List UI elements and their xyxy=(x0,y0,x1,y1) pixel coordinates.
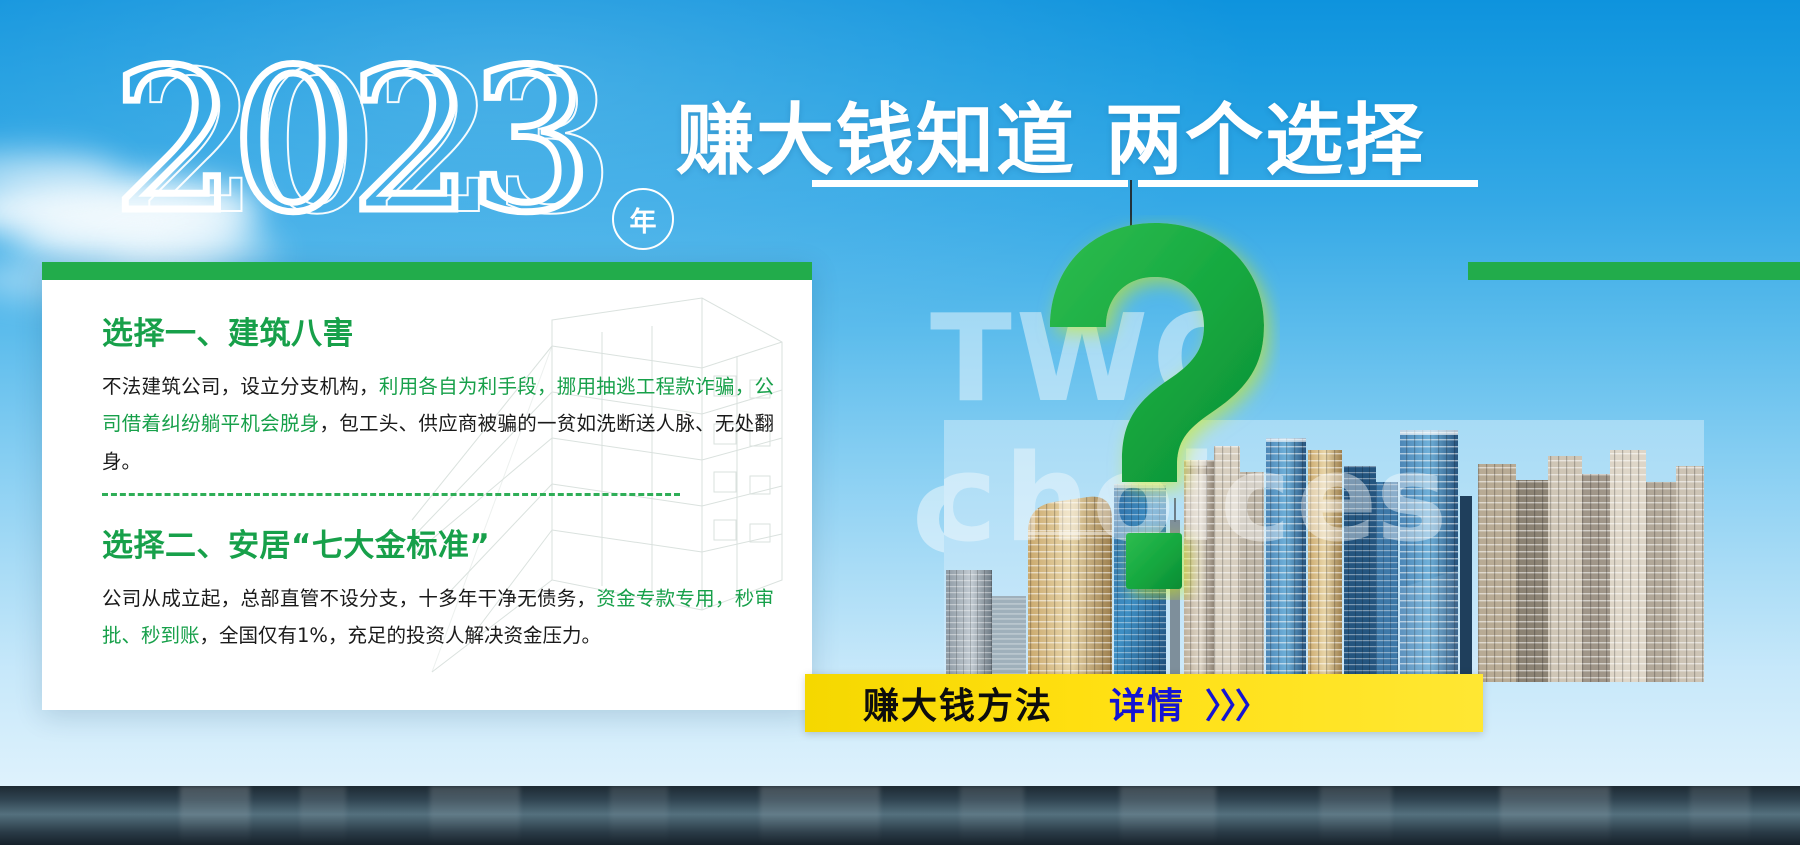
year-unit-badge: 年 xyxy=(612,188,674,250)
svg-text:o: o xyxy=(1092,430,1174,569)
section-two-part-0: 公司从成立起，总部直管不设分支，十多年干净无债务， xyxy=(102,587,596,610)
cta-link-label[interactable]: 详情 xyxy=(1109,677,1185,729)
section-two: 选择二、安居“七大金标准” 公司从成立起，总部直管不设分支，十多年干净无债务，资… xyxy=(102,520,782,655)
section-two-part-2: ，全国仅有1%，充足的投资人解决资金压力。 xyxy=(200,624,601,647)
city-skyline-photo: c h o i c e s xyxy=(944,420,1704,682)
chevron-right-icon: 〉〉〉 xyxy=(1205,679,1267,728)
svg-text:i: i xyxy=(1176,430,1217,569)
headline-drop-line xyxy=(1130,180,1132,258)
svg-text:c: c xyxy=(944,430,997,569)
choices-card: 选择一、建筑八害 不法建筑公司，设立分支机构，利用各自为利手段，挪用抽逃工程款诈… xyxy=(42,262,812,710)
section-two-title: 选择二、安居“七大金标准” xyxy=(102,520,782,565)
section-one-body: 不法建筑公司，设立分支机构，利用各自为利手段，挪用抽逃工程款诈骗，公司借着纠纷躺… xyxy=(102,368,774,480)
svg-text:e: e xyxy=(1296,430,1377,569)
card-top-accent-bar xyxy=(42,262,812,280)
headline-rule-left xyxy=(812,180,1128,187)
section-one: 选择一、建筑八害 不法建筑公司，设立分支机构，利用各自为利手段，挪用抽逃工程款诈… xyxy=(102,308,782,480)
section-one-title: 选择一、建筑八害 xyxy=(102,308,782,353)
ground-strip xyxy=(0,786,1800,845)
section-one-part-0: 不法建筑公司，设立分支机构， xyxy=(102,375,379,398)
headline-rule-right xyxy=(1138,180,1478,187)
cta-main-label: 赚大钱方法 xyxy=(863,677,1053,729)
section-two-body: 公司从成立起，总部直管不设分支，十多年干净无债务，资金专款专用，秒审批、秒到账，… xyxy=(102,580,774,655)
svg-text:s: s xyxy=(1376,430,1447,569)
city-skyline-svg: c h o i c e s xyxy=(944,420,1704,682)
svg-text:c: c xyxy=(1220,430,1291,569)
page-title: 赚大钱知道 两个选择 xyxy=(676,78,1425,190)
poster-stage: 2023 2023 年 赚大钱知道 两个选择 TWO choices xyxy=(0,0,1800,845)
section-divider xyxy=(102,493,680,496)
cta-button[interactable]: 赚大钱方法 详情 〉〉〉 xyxy=(805,674,1483,732)
svg-text:h: h xyxy=(1004,430,1089,569)
right-accent-bar xyxy=(1468,262,1800,280)
